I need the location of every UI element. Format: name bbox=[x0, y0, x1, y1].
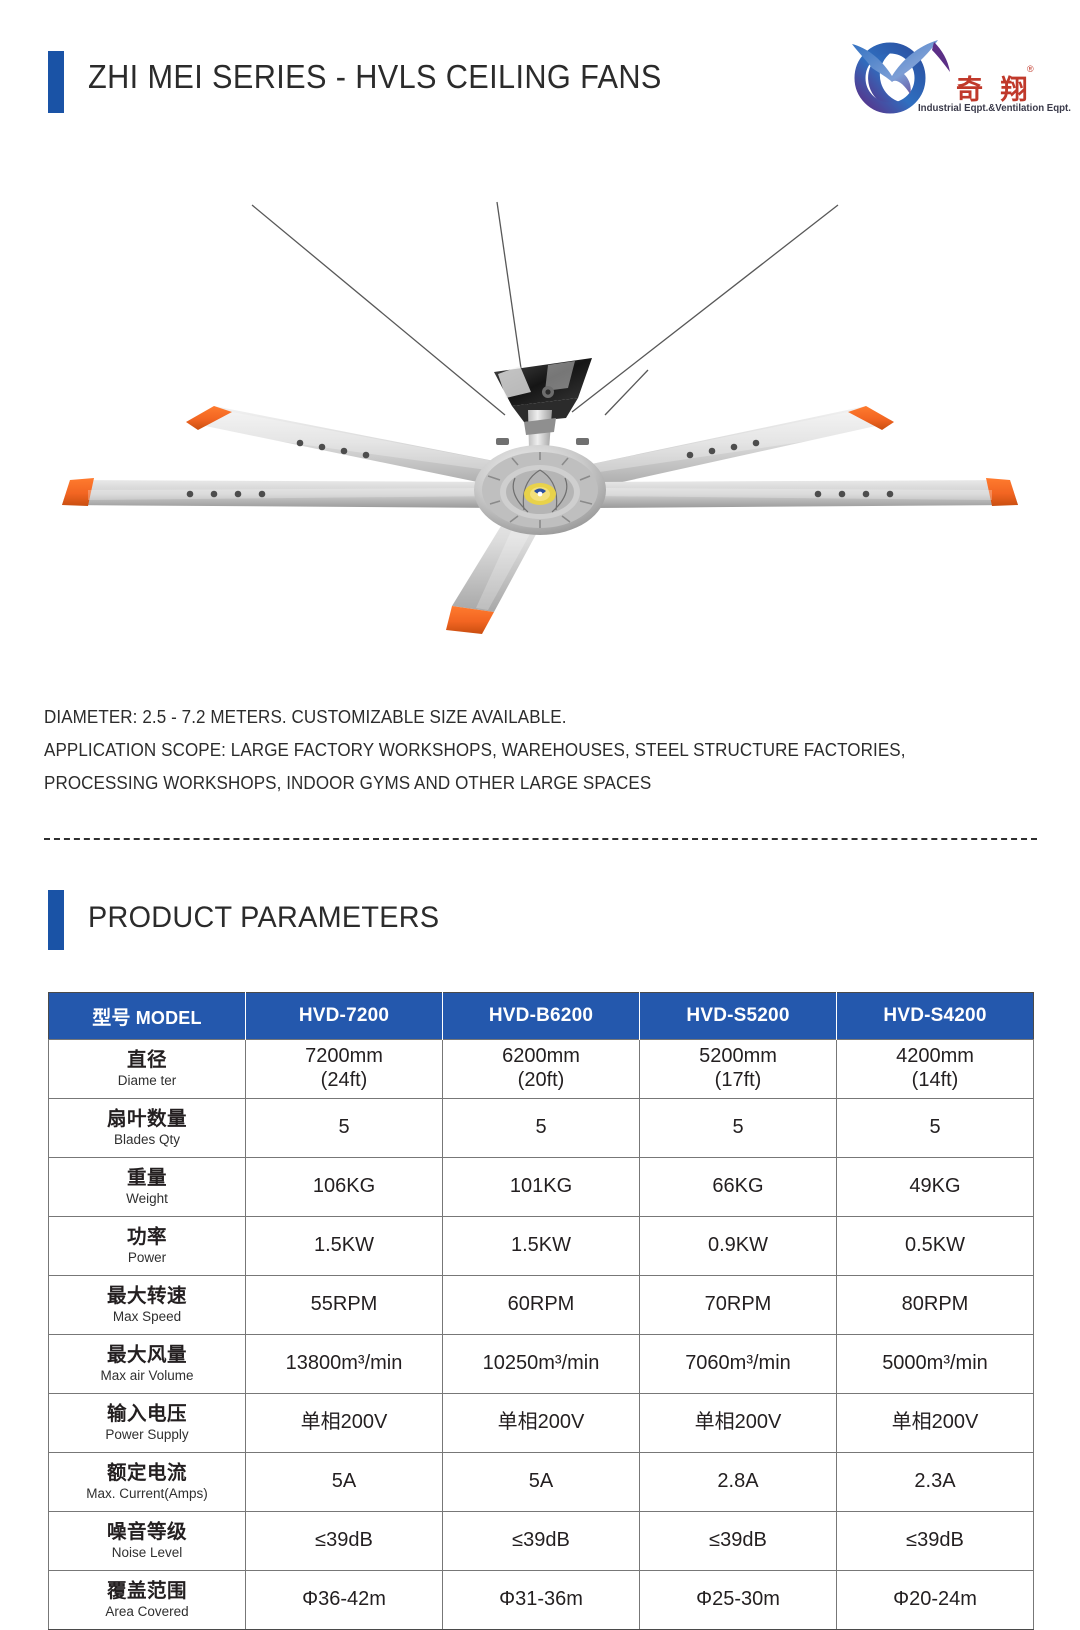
row-label: 扇叶数量Blades Qty bbox=[49, 1099, 246, 1158]
row-label: 最大风量Max air Volume bbox=[49, 1335, 246, 1394]
table-cell: Φ36-42m bbox=[246, 1571, 443, 1630]
row-label-en: Power Supply bbox=[51, 1427, 243, 1442]
cell-value: 66KG bbox=[640, 1175, 836, 1199]
company-logo: 奇 翔 ® Industrial Eqpt.&Ventilation Eqpt. bbox=[838, 30, 1048, 130]
table-cell: 5A bbox=[443, 1453, 640, 1512]
table-row: 输入电压Power Supply单相200V单相200V单相200V单相200V bbox=[49, 1394, 1034, 1453]
cell-value: ≤39dB bbox=[837, 1529, 1033, 1553]
column-header-model-4: HVD-S4200 bbox=[837, 993, 1034, 1040]
hvls-fan-illustration bbox=[0, 160, 1080, 670]
row-label: 直径Diame ter bbox=[49, 1040, 246, 1099]
fan-blade-4 bbox=[592, 478, 1018, 508]
table-row: 扇叶数量Blades Qty5555 bbox=[49, 1099, 1034, 1158]
column-header-model-2: HVD-B6200 bbox=[443, 993, 640, 1040]
table-cell: 5 bbox=[246, 1099, 443, 1158]
cell-value: 4200mm bbox=[837, 1045, 1033, 1069]
row-label-cn: 覆盖范围 bbox=[51, 1581, 243, 1603]
cell-value: 5000m³/min bbox=[837, 1352, 1033, 1376]
cell-value: 7200mm bbox=[246, 1045, 442, 1069]
table-cell: 4200mm(14ft) bbox=[837, 1040, 1034, 1099]
cell-value: Φ25-30m bbox=[640, 1588, 836, 1612]
fan-blade-2 bbox=[582, 406, 894, 490]
table-cell: 0.9KW bbox=[640, 1217, 837, 1276]
specification-table: 型号MODEL HVD-7200 HVD-B6200 HVD-S5200 HVD… bbox=[48, 992, 1034, 1630]
table-cell: 7200mm(24ft) bbox=[246, 1040, 443, 1099]
product-parameters-heading: PRODUCT PARAMETERS bbox=[0, 885, 1080, 965]
table-row: 额定电流Max. Current(Amps)5A5A2.8A2.3A bbox=[49, 1453, 1034, 1512]
cell-value: ≤39dB bbox=[640, 1529, 836, 1553]
table-cell: 60RPM bbox=[443, 1276, 640, 1335]
description-line-1: DIAMETER: 2.5 - 7.2 METERS. CUSTOMIZABLE… bbox=[44, 700, 964, 733]
table-cell: Φ20-24m bbox=[837, 1571, 1034, 1630]
cell-value: 5 bbox=[443, 1116, 639, 1140]
cell-value: 5 bbox=[246, 1116, 442, 1140]
cell-value: 55RPM bbox=[246, 1293, 442, 1317]
row-label: 重量Weight bbox=[49, 1158, 246, 1217]
table-cell: 5A bbox=[246, 1453, 443, 1512]
row-label: 输入电压Power Supply bbox=[49, 1394, 246, 1453]
row-label-cn: 额定电流 bbox=[51, 1463, 243, 1485]
table-header-row: 型号MODEL HVD-7200 HVD-B6200 HVD-S5200 HVD… bbox=[49, 993, 1034, 1040]
cell-value: ≤39dB bbox=[246, 1529, 442, 1553]
cell-value: 单相200V bbox=[246, 1411, 442, 1435]
table-cell: 单相200V bbox=[640, 1394, 837, 1453]
table-cell: 1.5KW bbox=[246, 1217, 443, 1276]
description-line-2: APPLICATION SCOPE: LARGE FACTORY WORKSHO… bbox=[44, 733, 964, 766]
cell-value: 1.5KW bbox=[246, 1234, 442, 1258]
fan-motor-hub bbox=[474, 445, 606, 535]
column-header-model-3: HVD-S5200 bbox=[640, 993, 837, 1040]
table-row: 直径Diame ter7200mm(24ft)6200mm(20ft)5200m… bbox=[49, 1040, 1034, 1099]
row-label: 功率Power bbox=[49, 1217, 246, 1276]
row-label-cn: 扇叶数量 bbox=[51, 1109, 243, 1131]
row-label-en: Max air Volume bbox=[51, 1368, 243, 1383]
cell-value: 2.8A bbox=[640, 1470, 836, 1494]
row-label: 噪音等级Noise Level bbox=[49, 1512, 246, 1571]
table-row: 噪音等级Noise Level≤39dB≤39dB≤39dB≤39dB bbox=[49, 1512, 1034, 1571]
cell-value: 单相200V bbox=[837, 1411, 1033, 1435]
cell-value: 106KG bbox=[246, 1175, 442, 1199]
table-cell: 13800m³/min bbox=[246, 1335, 443, 1394]
row-label: 额定电流Max. Current(Amps) bbox=[49, 1453, 246, 1512]
cell-subvalue: (17ft) bbox=[640, 1069, 836, 1093]
fan-blade-1 bbox=[186, 406, 520, 490]
row-label-en: Noise Level bbox=[51, 1545, 243, 1560]
table-cell: 5 bbox=[443, 1099, 640, 1158]
table-cell: ≤39dB bbox=[837, 1512, 1034, 1571]
table-row: 最大转速Max Speed55RPM60RPM70RPM80RPM bbox=[49, 1276, 1034, 1335]
table-cell: ≤39dB bbox=[443, 1512, 640, 1571]
table-cell: 49KG bbox=[837, 1158, 1034, 1217]
registered-trademark-icon: ® bbox=[1027, 64, 1034, 74]
page-header: ZHI MEI SERIES - HVLS CEILING FANS 奇 翔 bbox=[0, 0, 1080, 150]
row-label-cn: 噪音等级 bbox=[51, 1522, 243, 1544]
cell-subvalue: (14ft) bbox=[837, 1069, 1033, 1093]
model-header-en: MODEL bbox=[136, 1008, 202, 1028]
section-accent-bar bbox=[48, 890, 64, 950]
table-cell: 55RPM bbox=[246, 1276, 443, 1335]
cell-value: 49KG bbox=[837, 1175, 1033, 1199]
cell-value: 单相200V bbox=[640, 1411, 836, 1435]
table-cell: ≤39dB bbox=[246, 1512, 443, 1571]
cell-value: 13800m³/min bbox=[246, 1352, 442, 1376]
table-cell: 106KG bbox=[246, 1158, 443, 1217]
table-cell: 2.3A bbox=[837, 1453, 1034, 1512]
table-cell: 2.8A bbox=[640, 1453, 837, 1512]
page-title: ZHI MEI SERIES - HVLS CEILING FANS bbox=[88, 58, 662, 96]
model-header-cn: 型号 bbox=[92, 1008, 130, 1029]
cell-value: Φ36-42m bbox=[246, 1588, 442, 1612]
row-label-en: Area Covered bbox=[51, 1604, 243, 1619]
specification-table-wrapper: 型号MODEL HVD-7200 HVD-B6200 HVD-S5200 HVD… bbox=[48, 992, 1033, 1630]
column-header-model-1: HVD-7200 bbox=[246, 993, 443, 1040]
row-label-en: Diame ter bbox=[51, 1073, 243, 1088]
table-cell: ≤39dB bbox=[640, 1512, 837, 1571]
product-description: DIAMETER: 2.5 - 7.2 METERS. CUSTOMIZABLE… bbox=[44, 700, 1044, 799]
table-cell: 单相200V bbox=[837, 1394, 1034, 1453]
logo-tagline: Industrial Eqpt.&Ventilation Eqpt. bbox=[918, 102, 1071, 114]
table-row: 最大风量Max air Volume13800m³/min10250m³/min… bbox=[49, 1335, 1034, 1394]
table-cell: 10250m³/min bbox=[443, 1335, 640, 1394]
row-label-en: Power bbox=[51, 1250, 243, 1265]
cell-value: 0.5KW bbox=[837, 1234, 1033, 1258]
cell-value: 70RPM bbox=[640, 1293, 836, 1317]
table-row: 覆盖范围Area CoveredΦ36-42mΦ31-36mΦ25-30mΦ20… bbox=[49, 1571, 1034, 1630]
cell-value: Φ20-24m bbox=[837, 1588, 1033, 1612]
row-label-cn: 直径 bbox=[51, 1050, 243, 1072]
table-cell: 70RPM bbox=[640, 1276, 837, 1335]
cell-value: 6200mm bbox=[443, 1045, 639, 1069]
cell-value: 1.5KW bbox=[443, 1234, 639, 1258]
description-line-3: PROCESSING WORKSHOPS, INDOOR GYMS AND OT… bbox=[44, 766, 964, 799]
cell-value: 0.9KW bbox=[640, 1234, 836, 1258]
table-cell: 5 bbox=[640, 1099, 837, 1158]
table-cell: 7060m³/min bbox=[640, 1335, 837, 1394]
cell-value: ≤39dB bbox=[443, 1529, 639, 1553]
table-row: 重量Weight106KG101KG66KG49KG bbox=[49, 1158, 1034, 1217]
cell-subvalue: (24ft) bbox=[246, 1069, 442, 1093]
table-cell: 5000m³/min bbox=[837, 1335, 1034, 1394]
column-header-model: 型号MODEL bbox=[49, 993, 246, 1040]
row-label-en: Blades Qty bbox=[51, 1132, 243, 1147]
row-label-en: Max. Current(Amps) bbox=[51, 1486, 243, 1501]
cell-value: 5 bbox=[640, 1116, 836, 1140]
cell-subvalue: (20ft) bbox=[443, 1069, 639, 1093]
row-label-cn: 输入电压 bbox=[51, 1404, 243, 1426]
row-label-cn: 重量 bbox=[51, 1168, 243, 1190]
cell-value: 5 bbox=[837, 1116, 1033, 1140]
cell-value: 80RPM bbox=[837, 1293, 1033, 1317]
table-cell: 101KG bbox=[443, 1158, 640, 1217]
cell-value: 2.3A bbox=[837, 1470, 1033, 1494]
table-cell: 单相200V bbox=[443, 1394, 640, 1453]
cell-value: 5A bbox=[246, 1470, 442, 1494]
cell-value: 5200mm bbox=[640, 1045, 836, 1069]
table-cell: 66KG bbox=[640, 1158, 837, 1217]
cell-value: 5A bbox=[443, 1470, 639, 1494]
row-label-cn: 功率 bbox=[51, 1227, 243, 1249]
cell-value: 60RPM bbox=[443, 1293, 639, 1317]
table-cell: 5200mm(17ft) bbox=[640, 1040, 837, 1099]
table-row: 功率Power1.5KW1.5KW0.9KW0.5KW bbox=[49, 1217, 1034, 1276]
table-cell: Φ31-36m bbox=[443, 1571, 640, 1630]
table-cell: 0.5KW bbox=[837, 1217, 1034, 1276]
table-cell: 单相200V bbox=[246, 1394, 443, 1453]
cell-value: Φ31-36m bbox=[443, 1588, 639, 1612]
row-label: 最大转速Max Speed bbox=[49, 1276, 246, 1335]
row-label-en: Max Speed bbox=[51, 1309, 243, 1324]
cell-value: 10250m³/min bbox=[443, 1352, 639, 1376]
header-accent-bar bbox=[48, 51, 64, 113]
table-body: 直径Diame ter7200mm(24ft)6200mm(20ft)5200m… bbox=[49, 1040, 1034, 1630]
table-cell: Φ25-30m bbox=[640, 1571, 837, 1630]
cell-value: 7060m³/min bbox=[640, 1352, 836, 1376]
row-label-cn: 最大风量 bbox=[51, 1345, 243, 1367]
product-hero-image bbox=[0, 160, 1080, 670]
table-cell: 80RPM bbox=[837, 1276, 1034, 1335]
section-title: PRODUCT PARAMETERS bbox=[88, 901, 439, 935]
cell-value: 单相200V bbox=[443, 1411, 639, 1435]
table-cell: 5 bbox=[837, 1099, 1034, 1158]
table-cell: 6200mm(20ft) bbox=[443, 1040, 640, 1099]
section-divider bbox=[44, 838, 1037, 840]
table-cell: 1.5KW bbox=[443, 1217, 640, 1276]
row-label-cn: 最大转速 bbox=[51, 1286, 243, 1308]
row-label: 覆盖范围Area Covered bbox=[49, 1571, 246, 1630]
cell-value: 101KG bbox=[443, 1175, 639, 1199]
fan-blade-3 bbox=[62, 478, 505, 508]
row-label-en: Weight bbox=[51, 1191, 243, 1206]
